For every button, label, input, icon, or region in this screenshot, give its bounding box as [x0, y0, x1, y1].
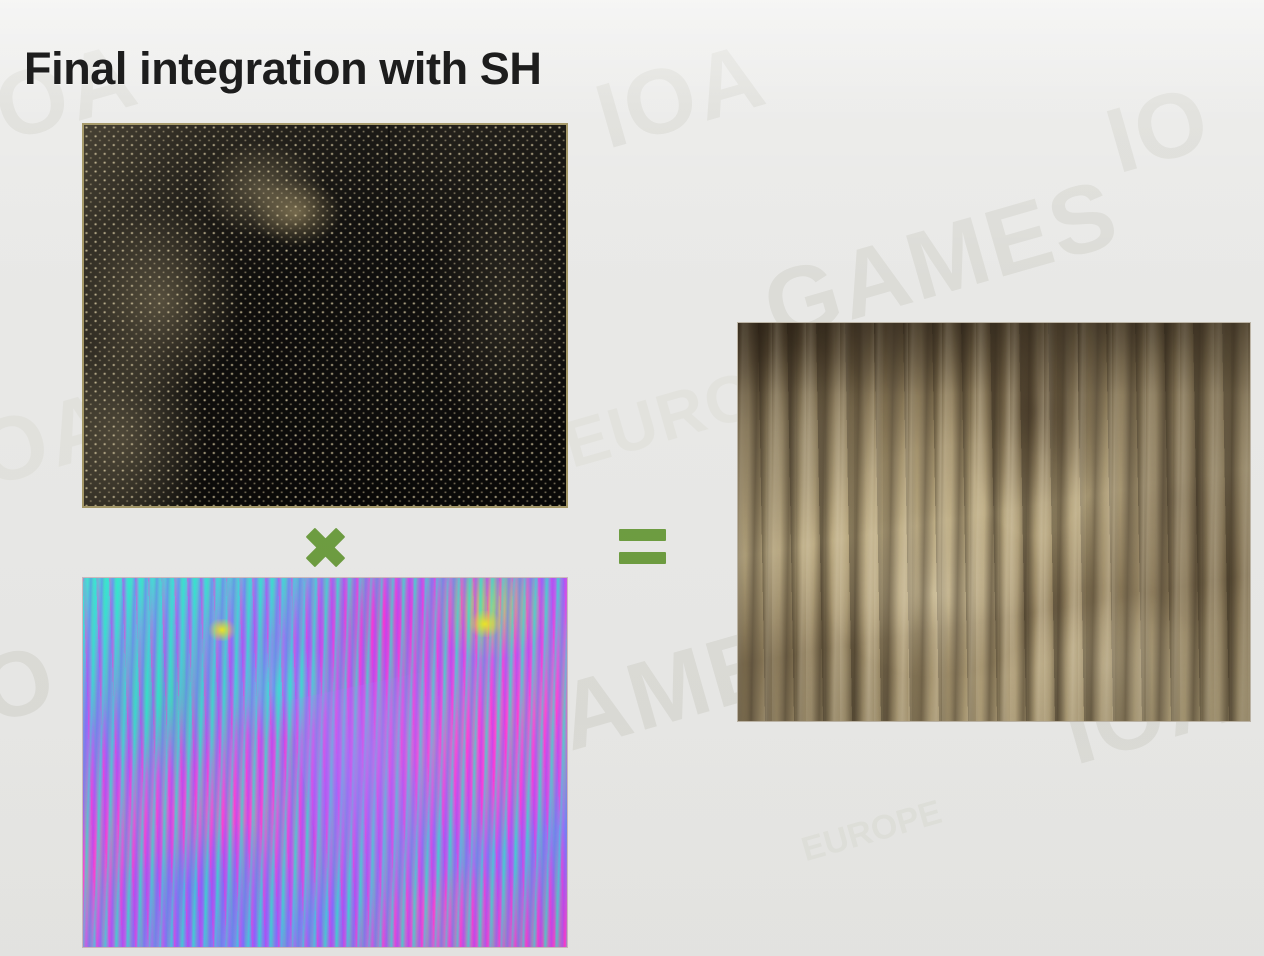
page-title: Final integration with SH [24, 44, 542, 94]
normal-yellow-blob [470, 611, 500, 637]
watermark-text: IO [0, 624, 68, 753]
final-render-image [737, 322, 1251, 722]
texture-seam [388, 125, 390, 506]
sh-irradiance-image [82, 123, 568, 508]
watermark-text: EUROPE [797, 793, 946, 870]
normal-albedo-image [82, 577, 568, 948]
watermark-text: IO [1095, 66, 1221, 195]
normal-highlight-region [287, 666, 495, 897]
normal-yellow-blob [209, 619, 235, 641]
equals-operator-icon [619, 529, 666, 564]
render-vignette [738, 323, 1250, 721]
multiply-operator-icon [300, 524, 350, 570]
watermark-text: IOA [585, 23, 777, 171]
slide-canvas: IOA IOA IO ION GAMES IOA EUROPE IO AMES … [0, 0, 1264, 956]
